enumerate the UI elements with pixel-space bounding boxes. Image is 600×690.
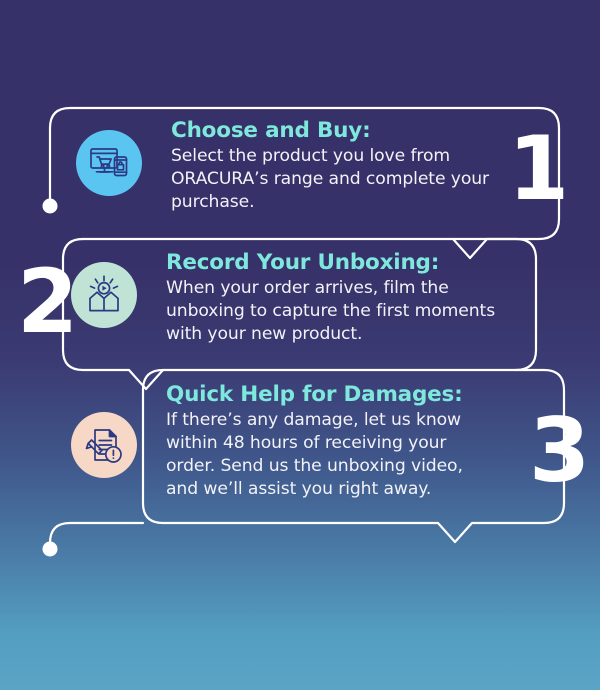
connector-dot-top <box>43 199 58 214</box>
desktop-cart-mobile-shop-icon <box>76 130 142 196</box>
process-steps-infographic: Choose and Buy: Select the product you l… <box>0 0 600 690</box>
connector-dot-bottom <box>43 542 58 557</box>
step-1-title: Choose and Buy: <box>171 119 493 144</box>
step-3-title: Quick Help for Damages: <box>166 383 496 408</box>
step-2-body: When your order arrives, film the unboxi… <box>166 277 506 346</box>
step-2-number: 2 <box>17 258 76 346</box>
step-1-number: 1 <box>508 125 567 213</box>
step-2-text: Record Your Unboxing: When your order ar… <box>166 251 506 346</box>
step-1-body: Select the product you love from ORACURA… <box>171 145 493 214</box>
step-3-text: Quick Help for Damages: If there’s any d… <box>166 383 496 500</box>
step-3-number: 3 <box>529 407 588 495</box>
step-1-text: Choose and Buy: Select the product you l… <box>171 119 493 214</box>
open-box-play-video-icon <box>71 262 137 328</box>
step-2-title: Record Your Unboxing: <box>166 251 506 276</box>
step-3-body: If there’s any damage, let us know withi… <box>166 409 496 501</box>
connector-line-bottom <box>50 523 143 548</box>
document-pen-alert-icon <box>71 412 137 478</box>
